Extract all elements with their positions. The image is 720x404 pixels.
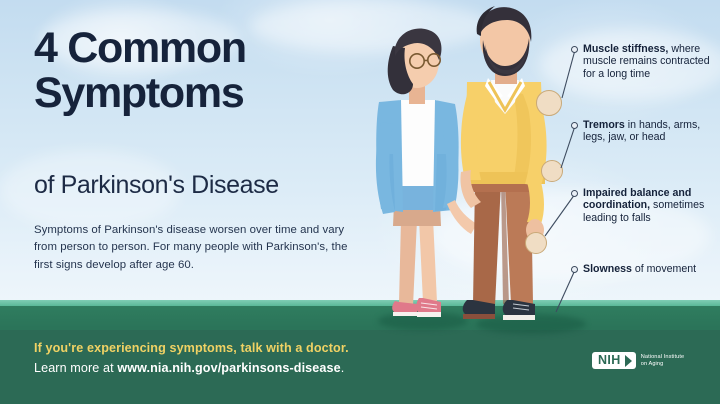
callout-dot-2 <box>571 122 578 129</box>
nih-mark-text: NIH <box>598 353 621 367</box>
callout-dot-4 <box>571 266 578 273</box>
callout-lead: Muscle stiffness, <box>583 43 668 55</box>
callout-lead: Slowness <box>583 263 632 275</box>
nih-mark: NIH <box>592 352 636 369</box>
callout-dot-3 <box>571 190 578 197</box>
callout-tremors: Tremors in hands, arms, legs, jaw, or he… <box>583 119 720 144</box>
nih-name-line-1: National Institute <box>641 354 684 361</box>
callout-muscle-stiffness: Muscle stiffness, where muscle remains c… <box>583 43 720 80</box>
nih-institute-name: National Institute on Aging <box>641 354 684 368</box>
callout-slowness: Slowness of movement <box>583 263 720 275</box>
footer-call-to-action: If you're experiencing symptoms, talk wi… <box>34 341 349 355</box>
footer-learn-more: Learn more at www.nia.nih.gov/parkinsons… <box>34 361 344 375</box>
callout-impaired-balance: Impaired balance and coordination, somet… <box>583 187 720 224</box>
headline-line-2: Symptoms <box>34 71 374 116</box>
footer-suffix: . <box>341 361 345 375</box>
infographic-poster: 4 Common Symptoms of Parkinson's Disease… <box>0 0 720 404</box>
nih-logo: NIH National Institute on Aging <box>592 352 684 369</box>
headline-line-1: 4 Common <box>34 24 246 72</box>
callout-rest: of movement <box>632 263 696 275</box>
intro-paragraph: Symptoms of Parkinson's disease worsen o… <box>34 222 356 274</box>
nih-name-line-2: on Aging <box>641 361 684 368</box>
callout-lead: Tremors <box>583 119 625 131</box>
chevron-right-icon <box>625 355 632 367</box>
page-title: 4 Common Symptoms <box>34 26 374 116</box>
callout-dot-1 <box>571 46 578 53</box>
footer-prefix: Learn more at <box>34 361 117 375</box>
footer-url[interactable]: www.nia.nih.gov/parkinsons-disease <box>117 361 340 375</box>
page-subtitle: of Parkinson's Disease <box>34 172 394 199</box>
